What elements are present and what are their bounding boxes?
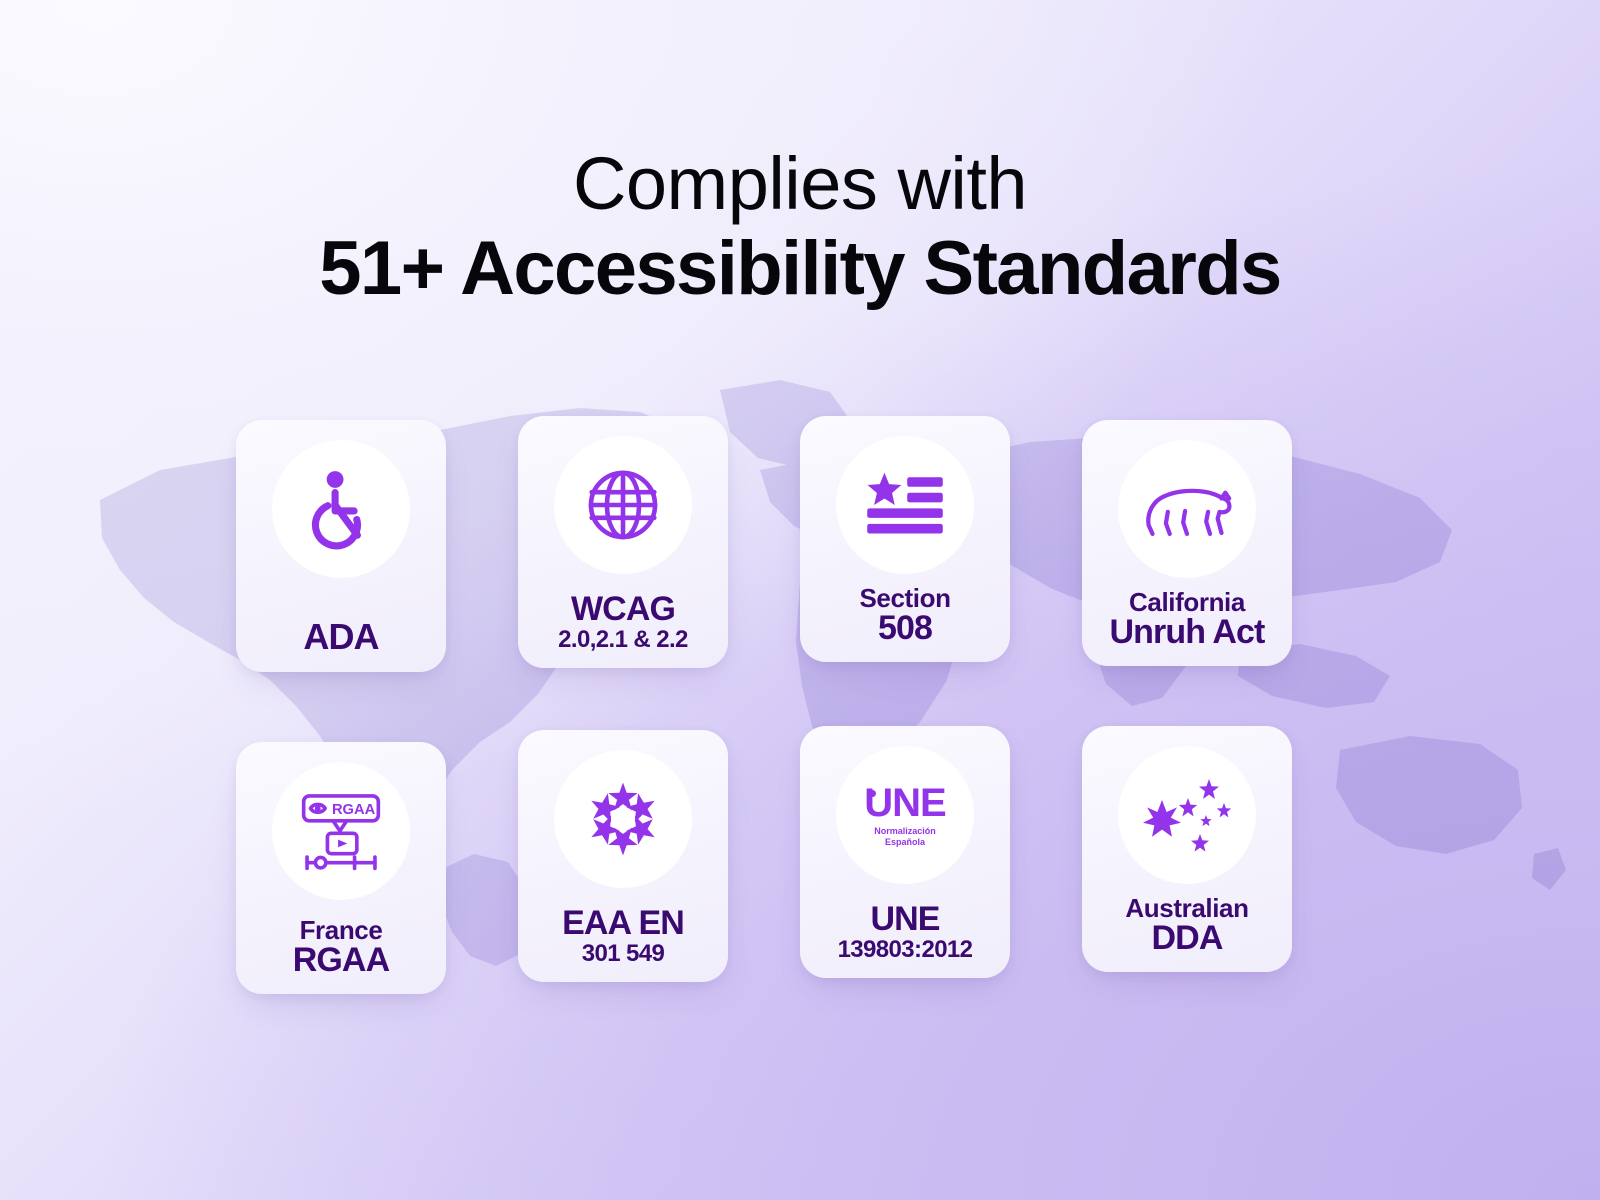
une-tagline-line1: Normalización <box>874 826 936 836</box>
card-labels: ADA <box>236 619 446 656</box>
svg-text:RGAA: RGAA <box>332 802 376 818</box>
une-tagline-line2: Española <box>885 837 925 847</box>
card-labels: UNE 139803:2012 <box>800 902 1010 962</box>
standard-card-wcag[interactable]: WCAG 2.0,2.1 & 2.2 <box>518 416 728 668</box>
standard-card-une-139803[interactable]: UNE Normalización Española UNE 139803:20… <box>800 726 1010 978</box>
card-labels: WCAG 2.0,2.1 & 2.2 <box>518 592 728 652</box>
eu-stars-circle-icon <box>580 776 666 862</box>
badge-circle <box>554 750 692 888</box>
une-wordmark: UNE <box>864 783 945 823</box>
badge-circle <box>1118 440 1256 578</box>
grain-texture-overlay <box>0 0 300 150</box>
card-label-top: Australian <box>1086 895 1288 922</box>
badge-circle: RGAA <box>272 762 410 900</box>
page-title: Complies with 51+ Accessibility Standard… <box>0 146 1600 311</box>
badge-circle <box>272 440 410 578</box>
card-label-sub: 139803:2012 <box>804 938 1006 962</box>
badge-circle: UNE Normalización Española <box>836 746 974 884</box>
title-headline: 51+ Accessibility Standards <box>0 227 1600 311</box>
card-labels: Section 508 <box>800 585 1010 646</box>
standards-grid: ADA WCAG <box>236 420 1364 1020</box>
card-labels: France RGAA <box>236 917 446 978</box>
wheelchair-accessible-icon <box>299 467 383 551</box>
card-label-top: France <box>240 917 442 944</box>
rgaa-captions-video-icon: RGAA <box>298 788 384 874</box>
card-label-sub: 2.0,2.1 & 2.2 <box>522 628 724 652</box>
card-label-main: DDA <box>1086 921 1288 956</box>
une-u-glyph: U <box>864 783 892 823</box>
card-label-top: California <box>1086 589 1288 616</box>
standard-card-france-rgaa[interactable]: RGAA France RGAA <box>236 742 446 994</box>
card-label-main: ADA <box>240 619 442 656</box>
badge-circle <box>554 436 692 574</box>
title-eyebrow: Complies with <box>0 146 1600 223</box>
standard-card-california-unruh-act[interactable]: California Unruh Act <box>1082 420 1292 666</box>
card-label-main: RGAA <box>240 943 442 978</box>
card-label-sub: 301 549 <box>522 942 724 966</box>
card-label-main: 508 <box>804 611 1006 646</box>
card-labels: EAA EN 301 549 <box>518 906 728 966</box>
standard-card-eaa-en-301549[interactable]: EAA EN 301 549 <box>518 730 728 982</box>
card-label-main: UNE <box>804 902 1006 937</box>
badge-circle <box>836 436 974 574</box>
southern-cross-stars-icon <box>1143 774 1231 856</box>
infographic-canvas: Complies with 51+ Accessibility Standard… <box>0 0 1600 1200</box>
une-ne-glyph: NE <box>892 781 946 825</box>
une-logo-icon: UNE Normalización Española <box>864 783 945 847</box>
us-flag-star-stripes-icon <box>865 470 945 540</box>
california-bear-icon <box>1141 478 1233 540</box>
card-labels: Australian DDA <box>1082 895 1292 956</box>
globe-icon <box>582 464 664 546</box>
standard-card-ada[interactable]: ADA <box>236 420 446 672</box>
card-label-top: Section <box>804 585 1006 612</box>
card-label-main: EAA EN <box>522 906 724 941</box>
badge-circle <box>1118 746 1256 884</box>
card-label-main: Unruh Act <box>1086 615 1288 650</box>
standard-card-australian-dda[interactable]: Australian DDA <box>1082 726 1292 972</box>
standard-card-section-508[interactable]: Section 508 <box>800 416 1010 662</box>
card-label-main: WCAG <box>522 592 724 627</box>
card-labels: California Unruh Act <box>1082 589 1292 650</box>
une-tagline: Normalización Española <box>864 826 945 847</box>
